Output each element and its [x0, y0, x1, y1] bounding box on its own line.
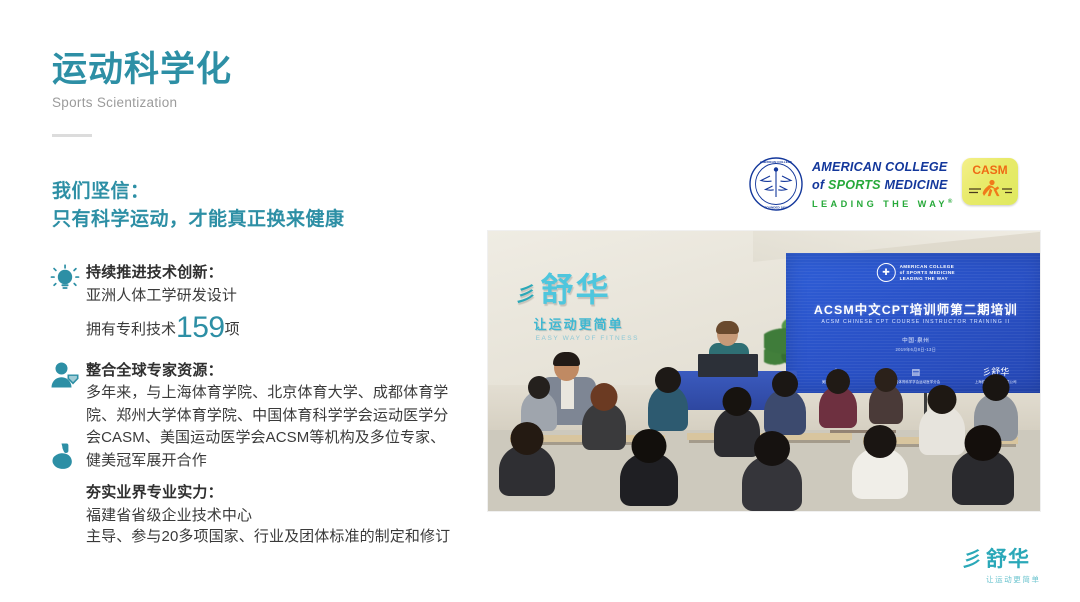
acsm-sports: SPORTS — [828, 178, 881, 192]
shua-brand-logo: 彡舒华 让运动更简单 — [962, 549, 1041, 585]
person-head — [826, 369, 850, 394]
belief-statement: 我们坚信： 只有科学运动，才能真正换来健康 — [52, 178, 345, 233]
photo-wall-brand-name: 彡舒华 — [516, 273, 639, 306]
person-head — [874, 368, 897, 392]
person-head — [528, 376, 550, 399]
bullet-list: 持续推进技术创新： 亚洲人体工学研发设计 拥有专利技术159项 整合全球专家资源… — [48, 262, 478, 547]
screen-date: 2019年6月8日-13日 — [895, 347, 936, 353]
acsm-of: of — [812, 178, 828, 192]
bullet-line: 健美冠军展开合作 — [86, 450, 478, 473]
photo-wall-brand: 彡舒华 让运动更简单 EASY WAY OF FITNESS — [516, 273, 639, 342]
person-head — [964, 425, 1001, 461]
belief-line-2: 只有科学运动，才能真正换来健康 — [52, 206, 345, 234]
person-head — [655, 367, 681, 393]
audience-person — [648, 385, 688, 431]
bullet-item-innovation: 持续推进技术创新： 亚洲人体工学研发设计 拥有专利技术159项 — [48, 262, 478, 346]
screen-acsm-seal-icon: ✚ — [877, 263, 896, 282]
audience-person — [742, 455, 802, 511]
training-session-photo: 彡舒华 让运动更简单 EASY WAY OF FITNESS ✚ AMERICA… — [488, 231, 1040, 511]
screen-acsm-wordmark: AMERICAN COLLEGE of SPORTS MEDICINE LEAD… — [900, 264, 955, 281]
audience-person — [869, 384, 903, 424]
acsm-tagline-text: LEADING THE WAY — [812, 199, 948, 209]
photo-audience — [488, 371, 1040, 511]
bullet-line: 会CASM、美国运动医学会ACSM等机构及多位专家、 — [86, 427, 478, 450]
audience-person — [620, 452, 678, 506]
bullet-body-innovation: 持续推进技术创新： 亚洲人体工学研发设计 拥有专利技术159项 — [86, 262, 478, 346]
person-head — [864, 425, 897, 458]
page-subtitle: Sports Scientization — [52, 95, 232, 110]
person-head — [754, 431, 790, 466]
shua-brand-name: 彡舒华 — [962, 549, 1041, 570]
screen-title: ACSM中文CPT培训师第二期培训 — [814, 300, 1018, 318]
man-hair — [553, 352, 580, 366]
registered-mark-icon: ® — [948, 199, 956, 205]
bullet-heading: 整合全球专家资源： — [86, 360, 478, 383]
screen-acsm-line-1: AMERICAN COLLEGE — [900, 264, 955, 269]
person-head — [927, 385, 956, 414]
photo-wall-brand-tagline: 让运动更简单 — [534, 314, 639, 333]
bullet-line: 院、郑州大学体育学院、中国体育科学学会运动医学分 — [86, 405, 478, 428]
person-head — [632, 429, 667, 463]
casm-text: CASM — [972, 163, 1007, 177]
screen-acsm-line-2: of SPORTS MEDICINE — [900, 270, 955, 275]
screen-place: 中国·泉州 — [902, 336, 929, 344]
screen-acsm-line-3: LEADING THE WAY — [900, 276, 948, 281]
title-block: 运动科学化 Sports Scientization — [52, 52, 232, 137]
bullet-line: 亚洲人体工学研发设计 — [86, 285, 478, 306]
shua-mark-icon: 彡 — [513, 285, 539, 305]
bullet-item-strength: 夯实业界专业实力： 福建省省级企业技术中心 主导、参与20多项国家、行业及团体标… — [48, 482, 478, 547]
svg-text:AMERICAN COLLEGE: AMERICAN COLLEGE — [760, 160, 792, 164]
acsm-medicine: MEDICINE — [881, 178, 948, 192]
speaker-hair — [716, 321, 739, 334]
stat-number: 159 — [176, 311, 225, 344]
screen-subtitle: ACSM CHINESE CPT COURSE INSTRUCTOR TRAIN… — [821, 319, 1010, 325]
acsm-tagline: LEADING THE WAY® — [812, 199, 956, 209]
acsm-american-college: AMERICAN COLLEGE — [812, 160, 947, 174]
acsm-line-1: AMERICAN COLLEGE of SPORTS MEDICINE — [812, 160, 948, 192]
casm-logo: CASM — [962, 158, 1018, 205]
acsm-wordmark: AMERICAN COLLEGE of SPORTS MEDICINE LEAD… — [812, 156, 956, 212]
patent-stat: 拥有专利技术159项 — [86, 310, 478, 346]
audience-person — [919, 405, 965, 455]
person-head — [511, 422, 544, 455]
stat-suffix: 项 — [225, 321, 240, 338]
bullet-body-experts: 整合全球专家资源： 多年来，与上海体育学院、北京体育大学、成都体育学 院、郑州大… — [86, 360, 478, 473]
shua-brand-tagline: 让运动更简单 — [986, 574, 1041, 585]
screen-acsm-logo: ✚ AMERICAN COLLEGE of SPORTS MEDICINE LE… — [877, 263, 955, 282]
audience-person — [764, 389, 806, 435]
bullet-heading: 持续推进技术创新： — [86, 262, 478, 285]
bullet-line: 福建省省级企业技术中心 — [86, 505, 478, 526]
photo-wall-brand-tagline-en: EASY WAY OF FITNESS — [536, 335, 639, 342]
person-head — [772, 371, 798, 397]
acsm-seal-icon: AMERICAN COLLEGE FOUNDED 1954 — [748, 156, 804, 212]
expert-person-icon — [48, 360, 82, 394]
photo-wall-brand-text: 舒华 — [541, 271, 611, 308]
person-head — [590, 383, 617, 411]
audience-person — [952, 449, 1014, 505]
audience-person — [582, 402, 626, 450]
muscle-arm-icon — [48, 440, 82, 474]
bullet-line: 主导、参与20多项国家、行业及团体标准的制定和修订 — [86, 526, 478, 547]
svg-text:FOUNDED 1954: FOUNDED 1954 — [764, 206, 787, 210]
bullet-item-experts: 整合全球专家资源： 多年来，与上海体育学院、北京体育大学、成都体育学 院、郑州大… — [48, 360, 478, 473]
audience-person — [819, 386, 857, 428]
shua-mark-icon: 彡 — [960, 550, 985, 570]
page-title: 运动科学化 — [52, 52, 232, 89]
person-head — [723, 387, 752, 416]
audience-person — [499, 444, 555, 496]
lightbulb-icon — [48, 262, 82, 296]
shua-brand-text: 舒华 — [986, 548, 1030, 571]
audience-person — [852, 447, 908, 499]
acsm-logo: AMERICAN COLLEGE FOUNDED 1954 AMERICAN C… — [748, 155, 944, 213]
belief-line-1: 我们坚信： — [52, 178, 345, 206]
person-head — [982, 374, 1009, 401]
bullet-body-strength: 夯实业界专业实力： 福建省省级企业技术中心 主导、参与20多项国家、行业及团体标… — [86, 482, 478, 547]
bullet-heading: 夯实业界专业实力： — [86, 482, 478, 505]
title-divider — [52, 134, 92, 137]
bullet-line: 多年来，与上海体育学院、北京体育大学、成都体育学 — [86, 382, 478, 405]
stat-prefix: 拥有专利技术 — [86, 321, 176, 338]
